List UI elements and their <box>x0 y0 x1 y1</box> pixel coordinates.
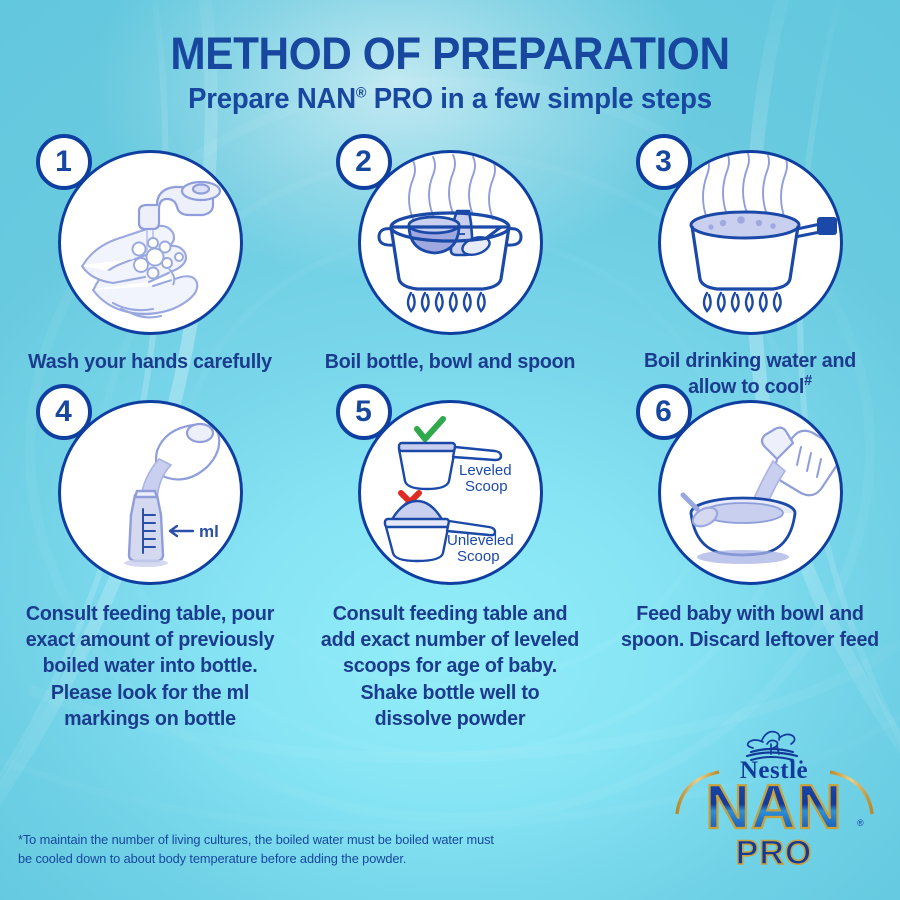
leveled-scoop-comparison-icon: Leveled Scoop <box>361 403 539 581</box>
registered-mark-icon: ® <box>356 85 366 102</box>
step-4-number-badge: 4 <box>36 384 92 440</box>
step-2-number-badge: 2 <box>336 134 392 190</box>
step-3: 3 Boil drinking water and allow to cool# <box>600 150 900 400</box>
pouring-jug-into-bottle-icon: ml <box>61 403 239 581</box>
step-6: 6 Feed baby with bowl and spoon. Discard… <box>600 400 900 732</box>
step-1-number-badge: 1 <box>36 134 92 190</box>
nan-pro-logo: Nestle NAN ® PRO <box>667 722 882 872</box>
poster-header: METHOD OF PREPARATION Prepare NAN® PRO i… <box>0 30 900 116</box>
boiling-pot-bottle-bowl-spoon-icon <box>361 153 539 331</box>
step-6-icon-wrap: 6 <box>658 400 843 585</box>
footnote-marker-hash: # <box>804 372 812 389</box>
step-2-caption: Boil bottle, bowl and spoon <box>320 349 579 375</box>
steps-grid: 1 Wash your hands carefully <box>0 150 900 732</box>
step-4: ml 4 Consult feeding table, pour exact a… <box>0 400 300 732</box>
page-subtitle: Prepare NAN® PRO in a few simple steps <box>23 83 878 116</box>
step-5-caption: Consult feeding table and add exact numb… <box>320 601 579 732</box>
hand-washing-faucet-icon <box>61 153 239 331</box>
step-1-icon-wrap: 1 <box>58 150 243 335</box>
leveled-label-line2: Scoop <box>465 478 508 495</box>
leveled-label-line1: Leveled <box>459 462 512 479</box>
step-3-icon-wrap: 3 <box>658 150 843 334</box>
nan-wordmark: NAN <box>705 773 842 842</box>
nan-registered-mark: ® <box>857 818 864 828</box>
step-2: 2 Boil bottle, bowl and spoon <box>300 150 600 400</box>
nestle-accent-dot <box>799 760 802 763</box>
footnote-text: *To maintain the number of living cultur… <box>18 830 503 868</box>
boiling-saucepan-water-icon <box>661 153 839 331</box>
step-1: 1 Wash your hands carefully <box>0 150 300 400</box>
subtitle-text-after: PRO in a few simple steps <box>366 83 712 115</box>
step-2-icon-wrap: 2 <box>358 150 543 335</box>
step-4-icon-wrap: ml 4 <box>58 400 243 585</box>
step-1-caption: Wash your hands carefully <box>20 349 279 375</box>
unleveled-label-line2: Scoop <box>457 548 500 565</box>
step-6-caption: Feed baby with bowl and spoon. Discard l… <box>620 601 879 653</box>
page-title: METHOD OF PREPARATION <box>27 30 873 77</box>
subtitle-text-before: Prepare NAN <box>188 83 356 115</box>
nan-pro-logo-svg: Nestle NAN ® PRO <box>667 722 882 872</box>
step-5-icon-wrap: Leveled Scoop <box>358 400 543 585</box>
step-4-caption: Consult feeding table, pour exact amount… <box>20 601 279 732</box>
step-6-number-badge: 6 <box>636 384 692 440</box>
step-5-number-badge: 5 <box>336 384 392 440</box>
step-3-number-badge: 3 <box>636 134 692 190</box>
bottle-pouring-into-bowl-icon <box>661 403 839 581</box>
nestle-nest-icon <box>747 732 797 760</box>
check-icon <box>417 419 443 439</box>
step-4-ml-label: ml <box>199 522 219 541</box>
infographic-poster: METHOD OF PREPARATION Prepare NAN® PRO i… <box>0 0 900 900</box>
unleveled-label-line1: Unleveled <box>447 532 514 549</box>
step-5: Leveled Scoop <box>300 400 600 732</box>
pro-wordmark: PRO <box>736 834 813 872</box>
